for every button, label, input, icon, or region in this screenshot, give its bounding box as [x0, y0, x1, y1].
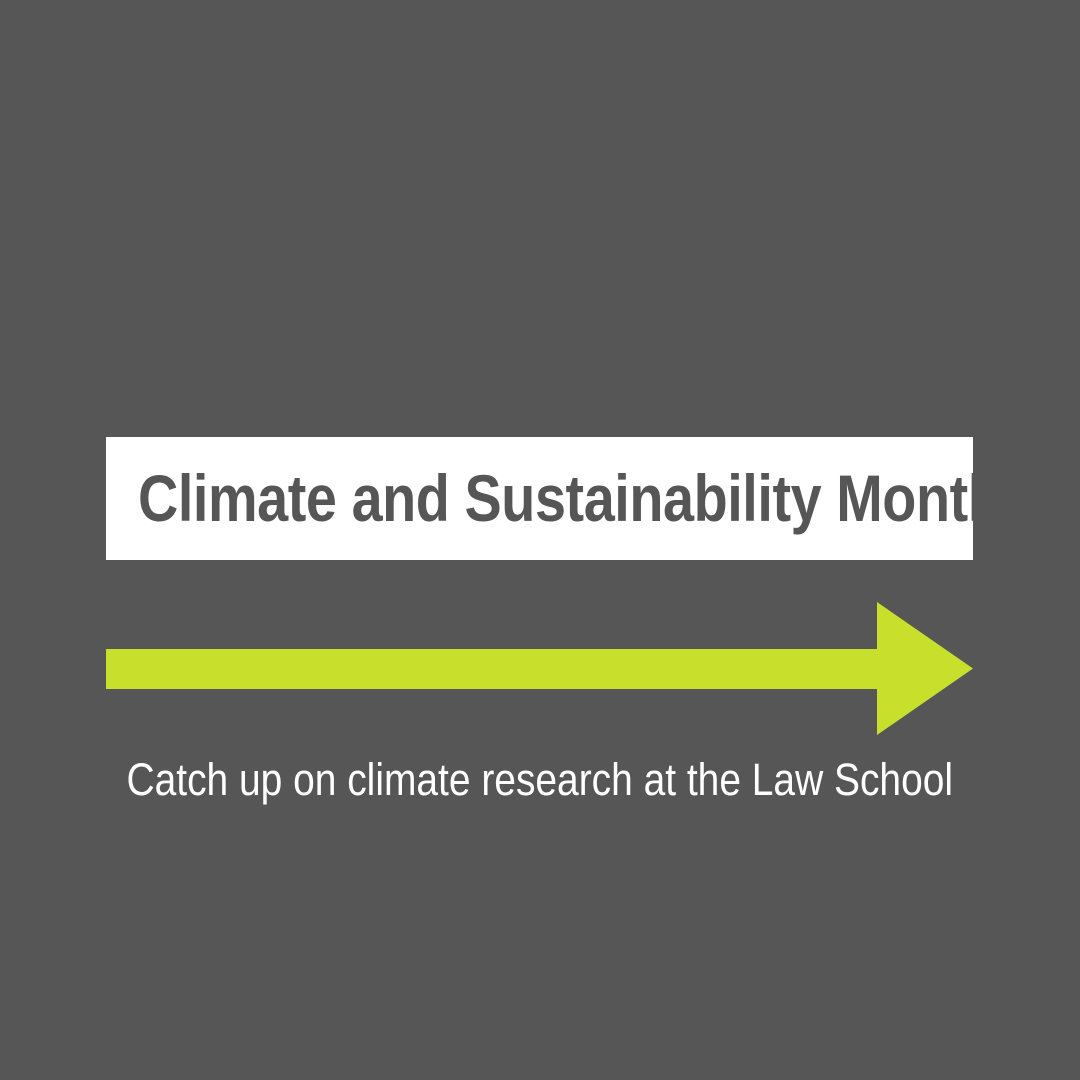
page-title: Climate and Sustainability Month [138, 437, 818, 560]
arrow-head [877, 602, 973, 735]
right-arrow-icon [106, 602, 973, 735]
subtitle-label: Catch up on climate research at the Law … [127, 752, 954, 807]
subtitle: Catch up on climate research at the Law … [0, 752, 1080, 807]
promo-graphic-canvas: Climate and Sustainability Month Catch u… [0, 0, 1080, 1080]
arrow-shaft [106, 649, 881, 689]
title-plaque: Climate and Sustainability Month [106, 437, 973, 560]
